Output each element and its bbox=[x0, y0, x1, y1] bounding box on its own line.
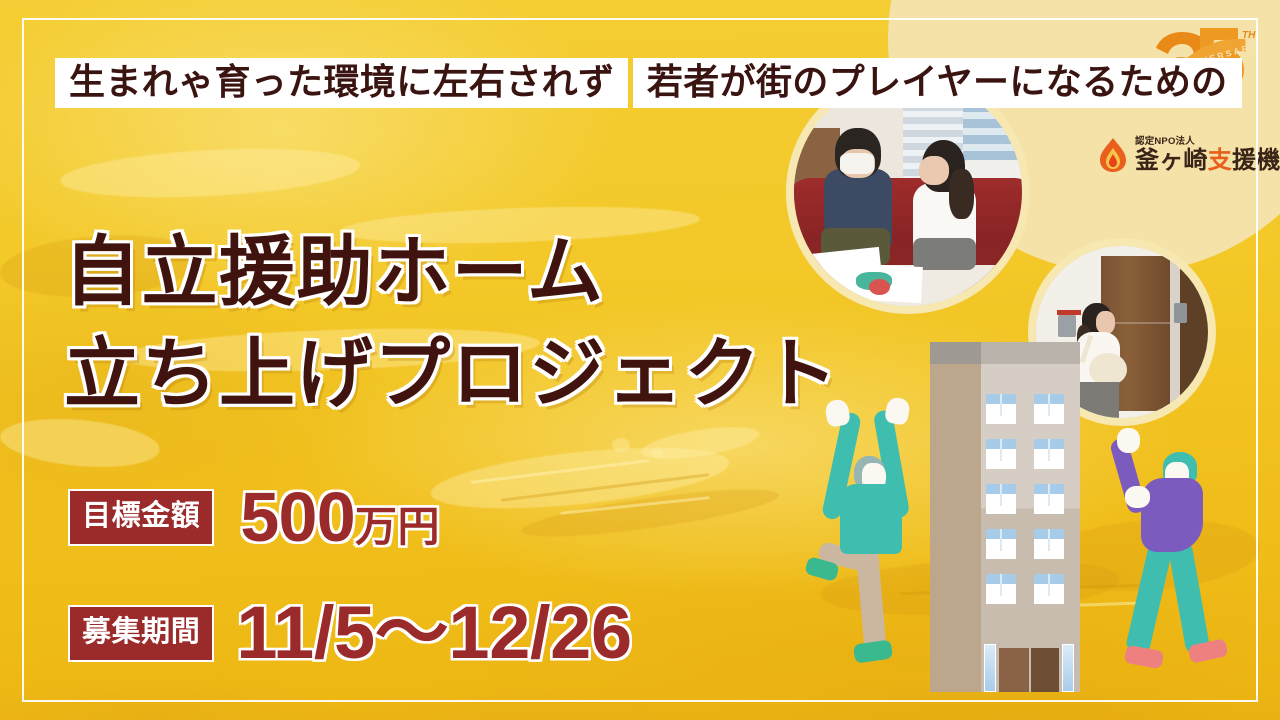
npo-prefix-label: 認定NPO法人 bbox=[1135, 137, 1280, 147]
npo-name-label: 釜ヶ崎支援機構 bbox=[1135, 149, 1280, 173]
apartment-building-illustration bbox=[930, 342, 1080, 692]
campaign-poster: ANNIVERSARY TH 認定NPO法人 釜ヶ崎支援機構 生まれゃ育った環境… bbox=[0, 0, 1280, 720]
goal-unit: 万円 bbox=[355, 503, 440, 550]
goal-amount: 500 bbox=[240, 478, 355, 556]
campaign-period-row: 募集期間 11/5〜12/26 bbox=[68, 596, 632, 670]
npo-name-highlight: 支 bbox=[1208, 147, 1232, 174]
title-line-2: 立ち上げプロジェクト bbox=[64, 328, 839, 422]
page-title: 自立援助ホーム 立ち上げプロジェクト bbox=[64, 226, 839, 422]
npo-name-part1: 釜ヶ崎 bbox=[1135, 147, 1208, 174]
goal-value: 500万円 bbox=[240, 482, 440, 552]
flame-icon bbox=[1098, 137, 1128, 173]
title-line-1: 自立援助ホーム bbox=[64, 226, 839, 320]
goal-badge: 目標金額 bbox=[68, 489, 214, 546]
period-dates: 11/5〜12/26 bbox=[236, 596, 631, 670]
person-waving-illustration bbox=[1115, 420, 1245, 688]
kicker-line-2: 若者が街のプレイヤーになるための bbox=[633, 58, 1242, 108]
person-cheering-illustration bbox=[810, 398, 930, 678]
npo-name-part2: 援機構 bbox=[1232, 147, 1280, 174]
npo-organization-logo: 認定NPO法人 釜ヶ崎支援機構 bbox=[1098, 128, 1264, 182]
goal-amount-row: 目標金額 500万円 bbox=[68, 482, 440, 552]
period-badge: 募集期間 bbox=[68, 605, 214, 662]
anniversary-ordinal: TH bbox=[1242, 30, 1256, 41]
kicker-line-1: 生まれゃ育った環境に左右されず bbox=[55, 58, 628, 108]
kicker-block: 生まれゃ育った環境に左右されず 若者が街のプレイヤーになるための bbox=[55, 58, 1242, 120]
